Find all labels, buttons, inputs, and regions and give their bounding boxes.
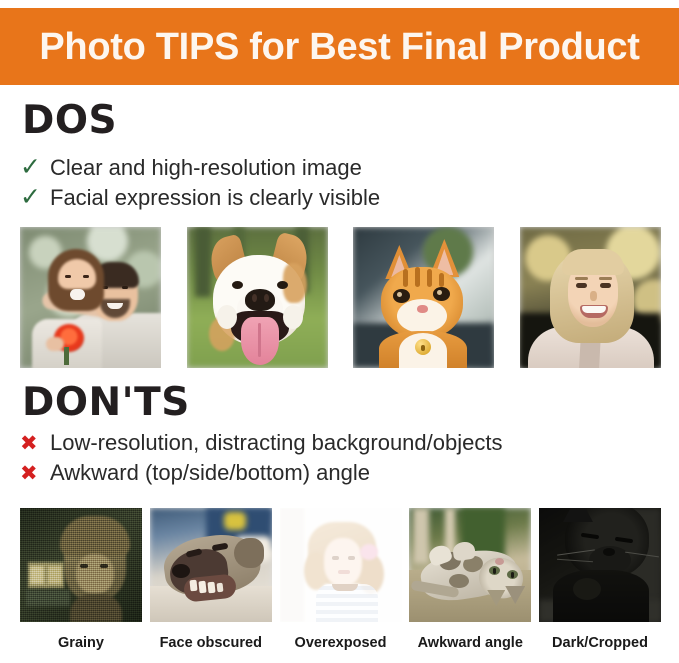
- photo-bad-overexposed: [280, 508, 402, 622]
- photo-caption: Face obscured: [150, 631, 272, 655]
- photo-good-couple: [20, 227, 161, 368]
- cross-icon: ✖: [20, 428, 50, 458]
- dos-photo-row: [20, 227, 661, 368]
- photo-caption: Grainy: [20, 631, 142, 655]
- photo-bad-grainy: [20, 508, 142, 622]
- donts-bullet-label: Awkward (top/side/bottom) angle: [50, 458, 370, 488]
- photo-caption: Dark/Cropped: [539, 631, 661, 655]
- photo-bad-awkward-angle: [409, 508, 531, 622]
- donts-section-heading: DON'TS: [22, 383, 190, 422]
- dos-bullet-label: Clear and high-resolution image: [50, 153, 362, 183]
- check-icon: ✓: [20, 152, 50, 182]
- donts-bullet-item: ✖ Low-resolution, distracting background…: [20, 428, 660, 458]
- check-icon: ✓: [20, 182, 50, 212]
- photo-caption: Awkward angle: [409, 631, 531, 655]
- header-banner: Photo TIPS for Best Final Product: [0, 8, 679, 85]
- donts-photo-row: [20, 508, 661, 622]
- dos-section-heading: DOS: [22, 101, 117, 140]
- photo-good-cat: [353, 227, 494, 368]
- dos-bullet-label: Facial expression is clearly visible: [50, 183, 380, 213]
- donts-bullet-list: ✖ Low-resolution, distracting background…: [20, 428, 660, 488]
- donts-bullet-label: Low-resolution, distracting background/o…: [50, 428, 502, 458]
- dos-bullet-item: ✓ Clear and high-resolution image: [20, 152, 660, 182]
- photo-caption: Overexposed: [280, 631, 402, 655]
- dos-bullet-list: ✓ Clear and high-resolution image ✓ Faci…: [20, 152, 660, 212]
- photo-bad-face-obscured: [150, 508, 272, 622]
- photo-good-woman: [520, 227, 661, 368]
- donts-bullet-item: ✖ Awkward (top/side/bottom) angle: [20, 458, 660, 488]
- dos-bullet-item: ✓ Facial expression is clearly visible: [20, 182, 660, 212]
- photo-good-dog: [187, 227, 328, 368]
- donts-caption-row: Grainy Face obscured Overexposed Awkward…: [20, 631, 661, 655]
- photo-bad-dark-cropped: [539, 508, 661, 622]
- page-title: Photo TIPS for Best Final Product: [39, 28, 639, 66]
- cross-icon: ✖: [20, 458, 50, 488]
